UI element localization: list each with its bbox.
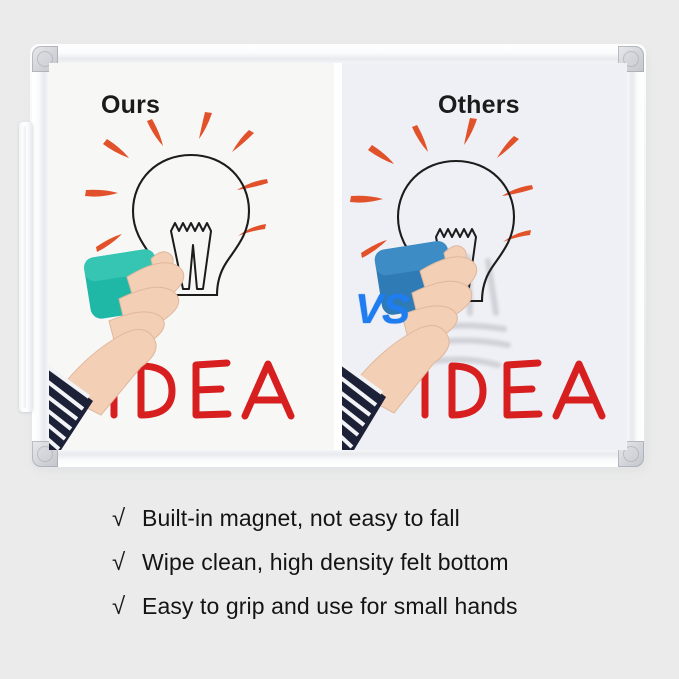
panel-others: Others (342, 63, 627, 450)
whiteboard: Ours (30, 44, 646, 469)
frame-bottom-rail (36, 449, 640, 467)
pen-tray-rail (19, 122, 33, 412)
check-icon: √ (112, 549, 142, 577)
feature-list: √ Built-in magnet, not easy to fall √ Wi… (112, 505, 582, 637)
aluminium-frame: Ours (30, 44, 646, 469)
feature-text: Easy to grip and use for small hands (142, 593, 518, 620)
product-image-scene: Ours (0, 0, 679, 679)
whiteboard-surface: Ours (49, 63, 627, 450)
check-icon: √ (112, 593, 142, 621)
panel-divider (334, 63, 342, 450)
list-item: √ Easy to grip and use for small hands (112, 593, 582, 637)
feature-text: Built-in magnet, not easy to fall (142, 505, 460, 532)
list-item: √ Wipe clean, high density felt bottom (112, 549, 582, 593)
check-icon: √ (112, 505, 142, 533)
frame-right-rail (627, 50, 644, 463)
hand-with-eraser-ours (49, 63, 334, 450)
panel-ours: Ours (49, 63, 334, 450)
frame-top-rail (36, 46, 640, 64)
hand-with-eraser-others (342, 63, 627, 450)
vs-badge: VS (340, 285, 424, 333)
list-item: √ Built-in magnet, not easy to fall (112, 505, 582, 549)
frame-left-rail (32, 50, 49, 463)
feature-text: Wipe clean, high density felt bottom (142, 549, 509, 576)
